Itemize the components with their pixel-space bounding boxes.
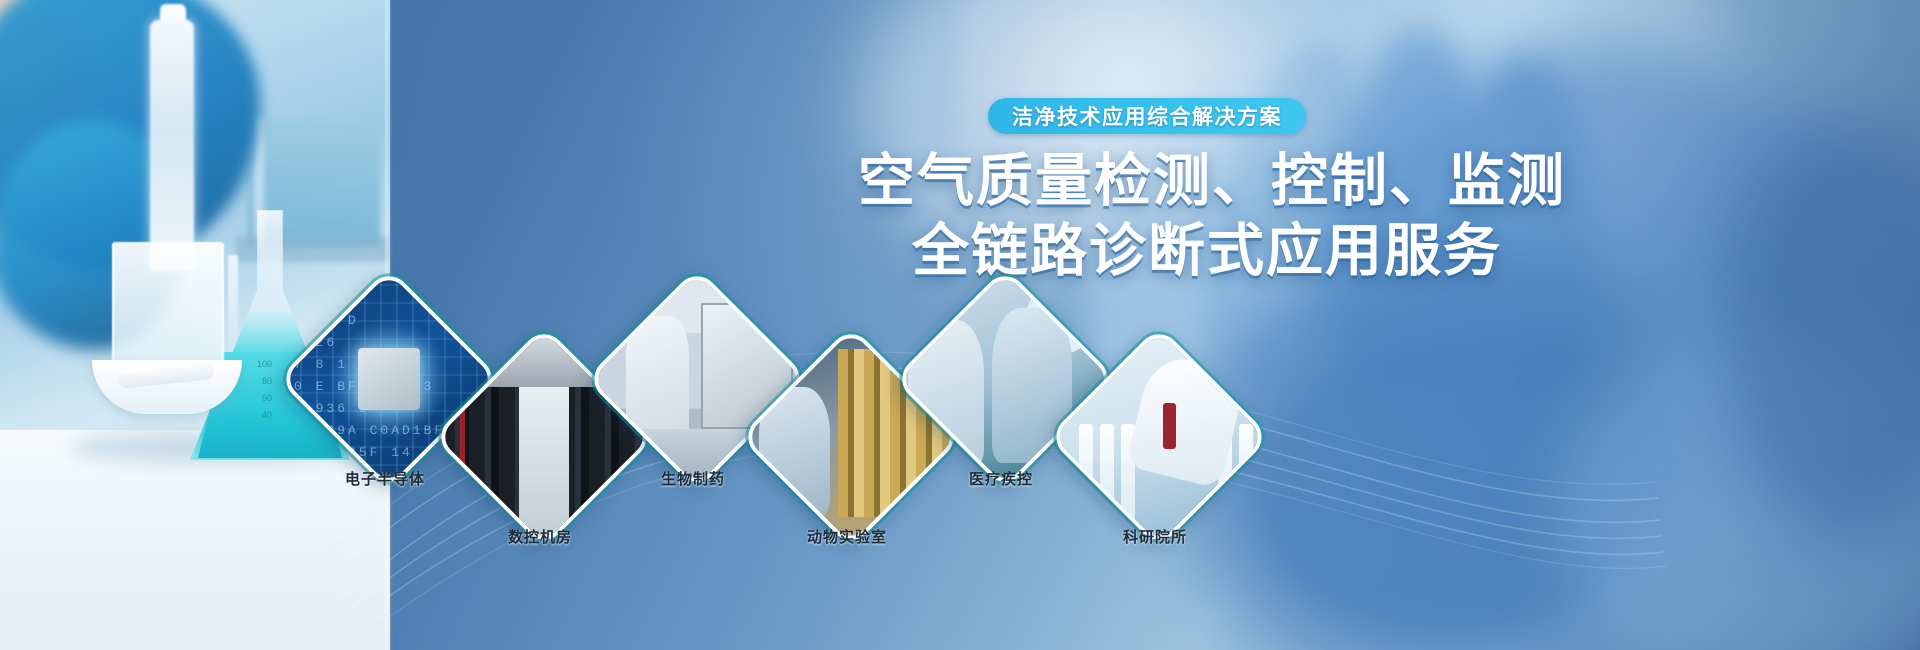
chip-die <box>358 348 420 410</box>
hero-banner: 100 80 60 40 洁净技术应用综合解决方案 空气质量检测、控制、监测 全… <box>0 0 1920 650</box>
digit-row: E2 F D <box>294 310 484 332</box>
test-tube <box>1079 424 1093 521</box>
diamond-frame <box>1047 325 1270 548</box>
cleanroom-worker <box>626 316 689 446</box>
sample-vial <box>1163 403 1176 449</box>
test-tube <box>1239 424 1253 521</box>
industry-card-label: 电子半导体 <box>280 468 490 489</box>
server-aisle <box>519 387 569 542</box>
test-tube <box>1100 424 1114 521</box>
lab-technician <box>759 387 830 517</box>
industry-card-label: 数控机房 <box>435 526 645 547</box>
industry-card-label: 医疗疾控 <box>896 468 1106 489</box>
industry-card-row: C A E2 F D 5926 7 8 1 E2C 0 E BF3 82693 … <box>0 0 1920 650</box>
industry-card-biopharma[interactable]: 生物制药 <box>618 300 768 450</box>
industry-card-research[interactable]: 科研院所 <box>1080 358 1230 508</box>
industry-card-label: 动物实验室 <box>742 526 952 547</box>
digit-row: C A <box>294 288 484 310</box>
industry-card-label: 科研院所 <box>1050 526 1260 547</box>
research-institute-icon <box>1054 332 1264 542</box>
industry-card-medical[interactable]: 医疗疾控 <box>926 300 1076 450</box>
industry-card-electronics[interactable]: C A E2 F D 5926 7 8 1 E2C 0 E BF3 82693 … <box>310 300 460 450</box>
industry-card-label: 生物制药 <box>588 468 798 489</box>
